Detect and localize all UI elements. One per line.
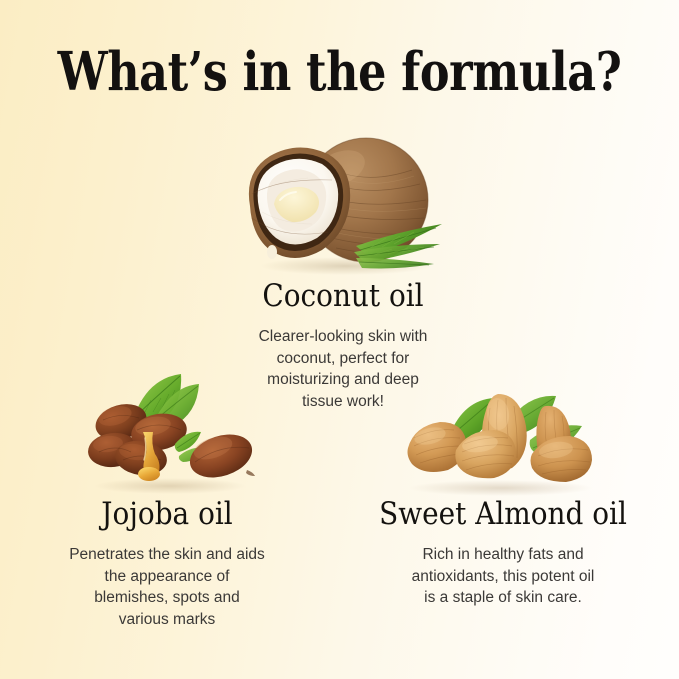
ingredient-jojoba: Jojoba oil Penetrates the skin and aids …	[17, 496, 317, 630]
page-title: What’s in the formula?	[54, 42, 624, 102]
ingredient-name-almond: Sweet Almond oil	[368, 496, 638, 532]
almond-illustration	[390, 378, 612, 498]
description-line: blemishes, spots and	[17, 587, 317, 609]
ingredient-description-jojoba: Penetrates the skin and aids the appeara…	[17, 544, 317, 630]
description-line: Clearer-looking skin with	[193, 326, 493, 348]
description-line: coconut, perfect for	[193, 348, 493, 370]
description-line: various marks	[17, 609, 317, 631]
description-line: the appearance of	[17, 566, 317, 588]
ingredient-almond: Sweet Almond oil Rich in healthy fats an…	[353, 496, 653, 609]
description-line: Rich in healthy fats and	[353, 544, 653, 566]
description-line: Penetrates the skin and aids	[17, 544, 317, 566]
description-line: antioxidants, this potent oil	[353, 566, 653, 588]
ingredient-name-coconut: Coconut oil	[208, 278, 478, 314]
coconut-illustration	[236, 128, 450, 278]
ingredients-infographic: What’s in the formula?	[0, 0, 679, 679]
ingredient-description-almond: Rich in healthy fats and antioxidants, t…	[353, 544, 653, 609]
ingredient-name-jojoba: Jojoba oil	[32, 496, 302, 532]
description-line: is a staple of skin care.	[353, 587, 653, 609]
jojoba-illustration	[75, 370, 265, 498]
